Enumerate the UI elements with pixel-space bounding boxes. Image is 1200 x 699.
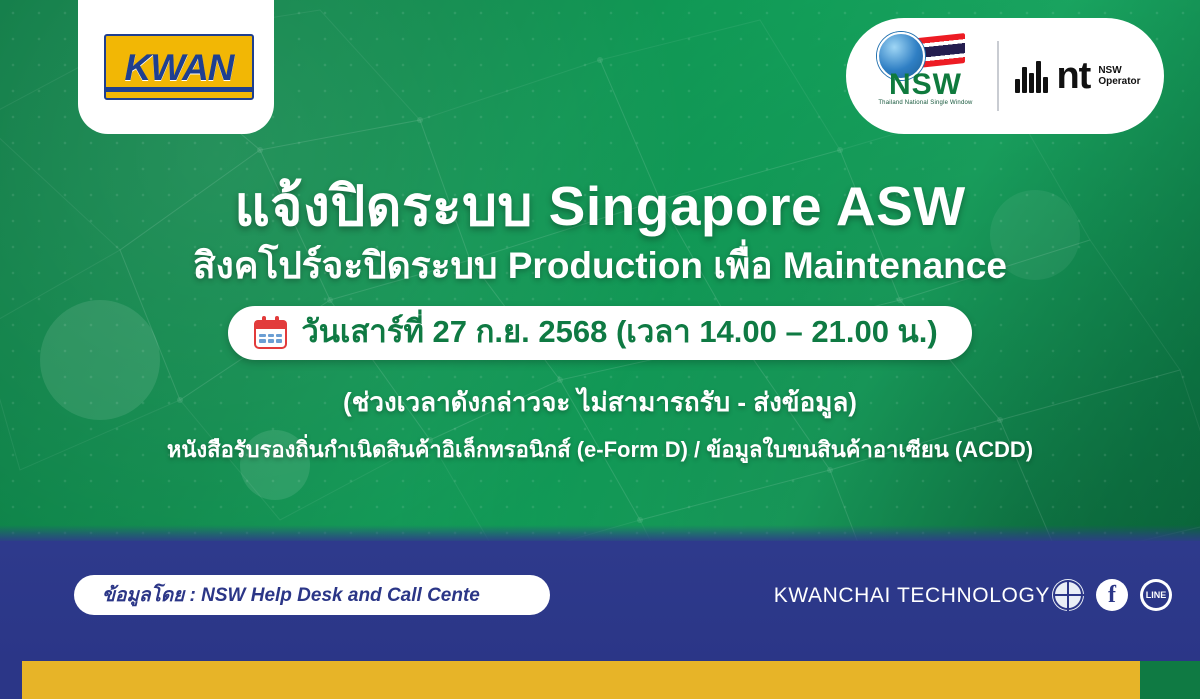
nsw-nt-logo-card: NSW Thailand National Single Window nt N… [846, 18, 1164, 134]
kwan-logo-card: KWAN [78, 0, 274, 134]
bottom-bar-yellow [22, 661, 1140, 699]
page-title: แจ้งปิดระบบ Singapore ASW [0, 176, 1200, 238]
headline-block: แจ้งปิดระบบ Singapore ASW สิงคโปร์จะปิดร… [0, 176, 1200, 467]
logo-divider [997, 41, 999, 111]
line-icon[interactable]: LINE [1140, 579, 1172, 611]
facebook-icon[interactable]: f [1096, 579, 1128, 611]
announcement-banner: KWAN NSW Thailand National Single Window… [0, 0, 1200, 699]
page-subtitle: สิงคโปร์จะปิดระบบ Production เพื่อ Maint… [0, 244, 1200, 288]
line-glyph: LINE [1143, 582, 1169, 608]
nsw-logo-text: NSW [869, 70, 981, 100]
social-links: f LINE [1052, 579, 1172, 611]
kwan-logo-bar [106, 87, 252, 92]
bottom-color-bar [0, 661, 1200, 699]
kwan-logo-text: KWAN [124, 49, 233, 86]
nt-operator-label: NSW Operator [1098, 65, 1140, 87]
company-name: KWANCHAI TECHNOLOGY [774, 584, 1050, 608]
footer-bar: ข้อมูลโดย : NSW Help Desk and Call Cente… [0, 541, 1200, 661]
date-badge: วันเสาร์ที่ 27 ก.ย. 2568 (เวลา 14.00 – 2… [228, 306, 971, 360]
source-label: ข้อมูลโดย : NSW Help Desk and Call Cente [102, 580, 480, 610]
nt-operator-line1: NSW [1098, 65, 1121, 76]
nt-operator-line2: Operator [1098, 76, 1140, 87]
bottom-bar-blue [0, 661, 22, 699]
facebook-glyph: f [1108, 583, 1116, 607]
nt-logo-text: nt [1056, 59, 1090, 93]
note-secondary: หนังสือรับรองถิ่นกำเนิดสินค้าอิเล็กทรอนิ… [0, 432, 1200, 467]
calendar-icon [254, 316, 287, 349]
nsw-logo: NSW Thailand National Single Window [869, 34, 981, 118]
nsw-logo-subtext: Thailand National Single Window [869, 100, 981, 106]
source-pill: ข้อมูลโดย : NSW Help Desk and Call Cente [74, 575, 550, 615]
bottom-bar-green [1140, 661, 1200, 699]
nt-logo: nt NSW Operator [1015, 59, 1140, 93]
nt-bars-icon [1015, 59, 1048, 93]
website-icon[interactable] [1052, 579, 1084, 611]
date-text: วันเสาร์ที่ 27 ก.ย. 2568 (เวลา 14.00 – 2… [301, 315, 937, 349]
kwan-logo: KWAN [104, 34, 254, 100]
note-primary: (ช่วงเวลาดังกล่าวจะ ไม่สามารถรับ - ส่งข้… [0, 382, 1200, 423]
